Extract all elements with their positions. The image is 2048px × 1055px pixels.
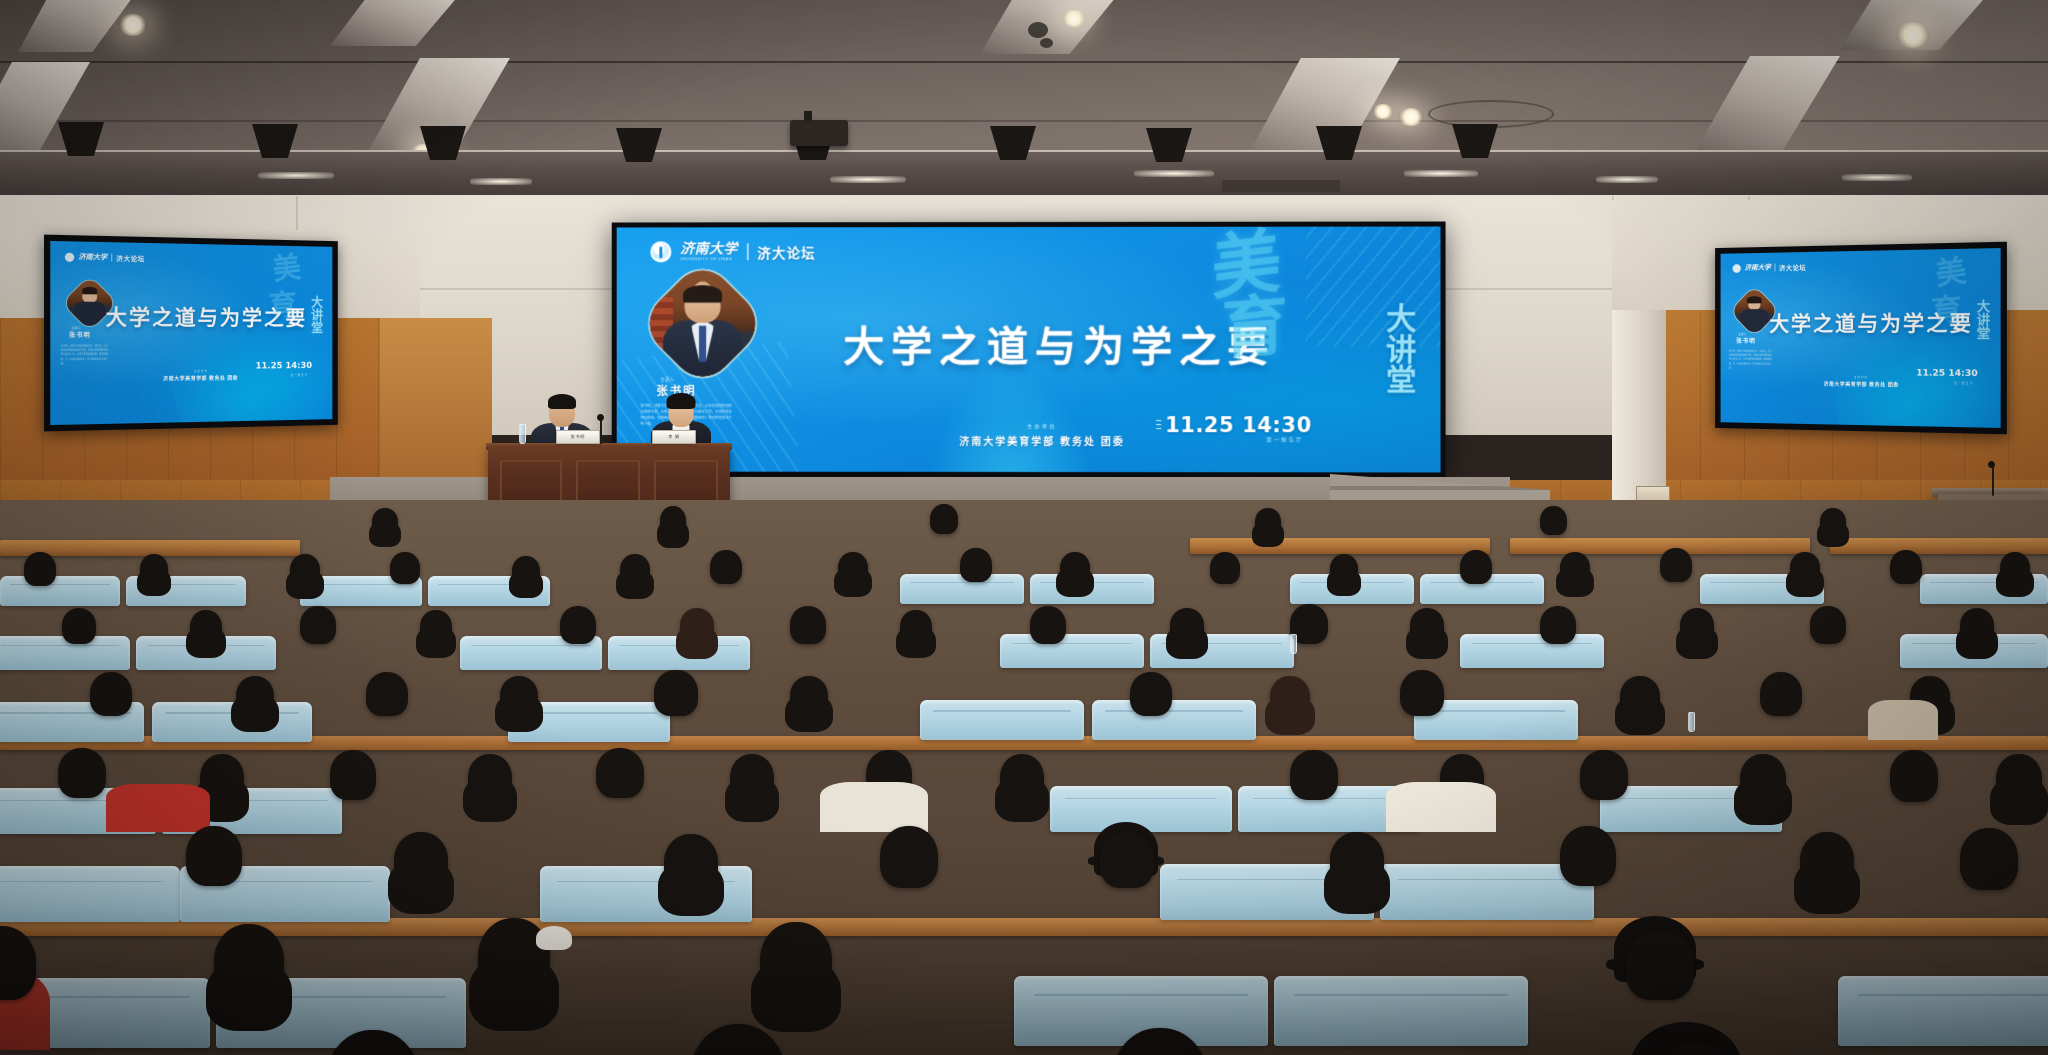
podium-microphone-stand xyxy=(1992,466,1994,496)
audience-head xyxy=(1800,832,1854,890)
audience-head xyxy=(1660,548,1692,582)
audience-seating xyxy=(0,500,2048,1055)
audience-seat xyxy=(0,636,130,670)
audience-head xyxy=(1890,750,1938,802)
desk-water-bottle xyxy=(1688,712,1695,732)
audience-seat xyxy=(920,700,1084,740)
audience-head xyxy=(760,922,832,1000)
nameplate-right-text: 李 娟 xyxy=(653,431,695,443)
ceiling-downlight xyxy=(1896,22,1930,48)
side-calli-tang-right: 堂 xyxy=(1977,328,1991,341)
ceiling-vent xyxy=(1428,100,1554,128)
audience-head xyxy=(660,506,686,536)
audience-cream-jacket xyxy=(1386,782,1496,832)
audience-seat xyxy=(0,576,120,606)
table-microphone-stand xyxy=(600,418,602,444)
audience-head xyxy=(880,826,938,888)
audience-head xyxy=(960,548,992,582)
audience-head xyxy=(420,610,452,644)
desk-water-bottle xyxy=(1290,634,1297,654)
audience-seat xyxy=(1000,634,1144,668)
event-datetime-group: 11.25 14:30 xyxy=(1156,413,1312,437)
audience-head xyxy=(236,676,274,716)
nameplate-left-text: 张书明 xyxy=(557,431,599,443)
calligraphy-tang: 堂 xyxy=(1386,366,1416,397)
audience-head xyxy=(1960,828,2018,890)
audience-head xyxy=(1740,754,1786,804)
organizer-names: 济南大学美育学部 教务处 团委 xyxy=(617,433,1441,449)
audience-head xyxy=(1100,832,1154,888)
side-display-right: 济南大学 济大论坛 主讲人 张书明 张书明，济南大学原党委副书记、研究员，山东省… xyxy=(1715,242,2007,435)
audience-head xyxy=(90,672,132,716)
audience-head xyxy=(730,754,774,802)
calligraphy-da: 大 xyxy=(1386,305,1416,336)
side-calligraphy-yu-right: 育 xyxy=(1931,296,1964,326)
screen-header: 济南大学 UNIVERSITY OF JINAN 济大论坛 xyxy=(650,241,815,262)
audience-head xyxy=(1130,672,1172,716)
audience-head xyxy=(654,670,698,716)
audience-head xyxy=(390,552,420,584)
audience-head xyxy=(1626,930,1694,1000)
datetime-tick-icon xyxy=(1156,420,1161,432)
official-hair xyxy=(548,394,576,409)
side-forum-name: 济大论坛 xyxy=(116,253,145,264)
side-speaker-bio: 张书明，济南大学原党委副书记、研究员，山东省高校思想政治教育专家。长期从事高等教… xyxy=(61,344,108,366)
lecture-hall-photo: 安全出口 济南大学 济大论坛 主讲人 张书明 张书明，济南大学原党委副书记、研究… xyxy=(0,0,2048,1055)
audience-head xyxy=(24,552,56,586)
audience-head xyxy=(1410,608,1444,644)
row-desk xyxy=(1510,538,1810,554)
audience-head xyxy=(1810,606,1846,644)
university-name-cn: 济南大学 xyxy=(680,242,738,256)
audience-seat xyxy=(1092,700,1256,740)
soffit-light xyxy=(1596,176,1658,183)
lecture-title: 大学之道与为学之要 xyxy=(617,313,1441,373)
audience-head xyxy=(372,508,398,536)
audience-head xyxy=(468,754,512,802)
audience-head xyxy=(1030,606,1066,644)
audience-head xyxy=(680,608,714,644)
header-divider xyxy=(747,243,748,260)
audience-head xyxy=(290,554,320,586)
organizer-label: 主办单位 xyxy=(617,423,1441,431)
side-university-name: 济南大学 xyxy=(78,252,107,263)
audience-head xyxy=(900,610,932,644)
audience-head xyxy=(1210,552,1240,584)
university-name-en: UNIVERSITY OF JINAN xyxy=(680,258,738,262)
audience-head xyxy=(930,504,958,534)
audience-seat xyxy=(1460,634,1604,668)
side-university-name-right: 济南大学 xyxy=(1745,263,1771,273)
audience-cream-jacket xyxy=(820,782,928,832)
nameplate-right: 李 娟 xyxy=(652,430,696,444)
ceiling-downlight xyxy=(1372,104,1394,119)
side-calligraphy-mei: 美 xyxy=(271,254,302,284)
soffit-light xyxy=(258,172,334,179)
ceiling-downlight xyxy=(118,14,148,36)
audience-head xyxy=(1580,750,1628,800)
soffit-light xyxy=(1404,170,1478,177)
side-display-left: 济南大学 济大论坛 主讲人 张书明 张书明，济南大学原党委副书记、研究员，山东省… xyxy=(44,235,338,432)
audience-head xyxy=(1330,554,1358,584)
audience-head xyxy=(1760,672,1802,716)
side-venue-left: 第一报告厅 xyxy=(291,373,309,377)
audience-head xyxy=(1000,754,1044,802)
side-datetime-left: 11.25 14:30 xyxy=(256,361,313,371)
nameplate-left: 张书明 xyxy=(556,430,600,444)
university-wordmark: 济南大学 UNIVERSITY OF JINAN xyxy=(680,242,738,262)
audience-head xyxy=(1820,508,1846,536)
side-calligraphy-mei-right: 美 xyxy=(1934,257,1968,289)
forum-name: 济大论坛 xyxy=(757,242,816,262)
audience-head xyxy=(790,606,826,644)
audience-head xyxy=(790,676,828,716)
audience-head xyxy=(1170,608,1204,644)
audience-head xyxy=(1620,676,1660,718)
audience-head xyxy=(214,924,284,1000)
hair-scrunchie xyxy=(536,926,572,950)
audience-seat xyxy=(0,866,180,922)
audience-head xyxy=(620,554,650,586)
audience-head xyxy=(1290,750,1338,800)
soffit-light xyxy=(1134,170,1214,177)
audience-head xyxy=(1560,826,1616,886)
calligraphy-column: 大 讲 堂 xyxy=(1386,305,1416,397)
side-calligraphy-yu: 育 xyxy=(268,292,298,321)
event-venue: 第一报告厅 xyxy=(1266,436,1303,443)
audience-head xyxy=(330,750,376,800)
audience-head xyxy=(1890,550,1922,584)
side-datetime-right: 11.25 14:30 xyxy=(1916,368,1977,379)
side-speaker-bio-right: 张书明，济南大学原党委副书记、研究员，山东省高校思想政治教育专家。长期从事高等教… xyxy=(1729,350,1772,371)
university-seal-icon xyxy=(65,252,74,261)
university-seal-icon xyxy=(650,241,671,262)
row-desk xyxy=(1190,538,1490,554)
audience-head xyxy=(140,554,168,584)
audience-head xyxy=(1460,550,1492,584)
ceiling-panel xyxy=(330,0,460,46)
audience-head xyxy=(710,550,742,584)
ceiling-downlight xyxy=(1398,108,1424,126)
audience-head xyxy=(190,610,222,644)
audience-head xyxy=(1560,552,1590,584)
audience-head xyxy=(2000,552,2030,584)
audience-head xyxy=(394,832,448,890)
ceiling-duct xyxy=(1222,180,1340,192)
audience-head xyxy=(1960,608,1994,644)
audience-head xyxy=(1400,670,1444,716)
soffit-light xyxy=(1842,174,1912,181)
audience-head xyxy=(62,608,96,644)
ceiling-projector xyxy=(790,120,848,146)
audience-head xyxy=(1270,676,1310,718)
table-microphone-head xyxy=(597,414,604,421)
side-calli-tang: 堂 xyxy=(311,322,323,335)
soffit-light xyxy=(470,178,532,185)
audience-seat xyxy=(1274,976,1528,1046)
podium-microphone-head xyxy=(1988,461,1995,468)
main-led-screen: 济南大学 UNIVERSITY OF JINAN 济大论坛 主讲人 张书明 张书… xyxy=(612,221,1446,477)
audience-head xyxy=(300,606,336,644)
ceiling-speaker xyxy=(1028,22,1048,38)
water-bottle xyxy=(519,424,526,444)
soffit-light xyxy=(830,176,906,183)
audience-seat xyxy=(900,574,1024,604)
audience-jacket xyxy=(1868,700,1938,740)
audience-head xyxy=(366,672,408,716)
audience-head xyxy=(500,676,538,716)
ceiling-panel xyxy=(1690,56,1840,160)
audience-seat xyxy=(1838,976,2048,1046)
audience-head xyxy=(1996,754,2042,804)
audience-head xyxy=(1255,508,1281,536)
audience-head xyxy=(1060,552,1090,584)
university-seal-icon xyxy=(1733,264,1741,273)
portrait-hair xyxy=(683,285,722,302)
audience-head xyxy=(186,826,242,886)
audience-head xyxy=(58,748,106,798)
audience-head xyxy=(596,748,644,798)
audience-red-jacket xyxy=(106,784,210,832)
audience-head xyxy=(664,834,718,892)
audience-head xyxy=(1330,832,1384,890)
side-forum-name-right: 济大论坛 xyxy=(1779,262,1806,272)
calligraphy-jiang: 讲 xyxy=(1386,336,1416,367)
audience-head xyxy=(560,606,596,644)
audience-head xyxy=(1540,506,1567,535)
audience-head xyxy=(1680,608,1714,644)
side-venue-right: 第一报告厅 xyxy=(1954,381,1974,385)
audience-head xyxy=(1790,552,1820,584)
ceiling-speaker xyxy=(1040,38,1053,48)
ceiling-downlight xyxy=(1062,10,1086,27)
audience-head xyxy=(512,556,540,586)
audience-head xyxy=(838,552,868,584)
event-datetime: 11.25 14:30 xyxy=(1165,413,1312,437)
official2-hair xyxy=(667,393,696,409)
audience-head xyxy=(1540,606,1576,644)
